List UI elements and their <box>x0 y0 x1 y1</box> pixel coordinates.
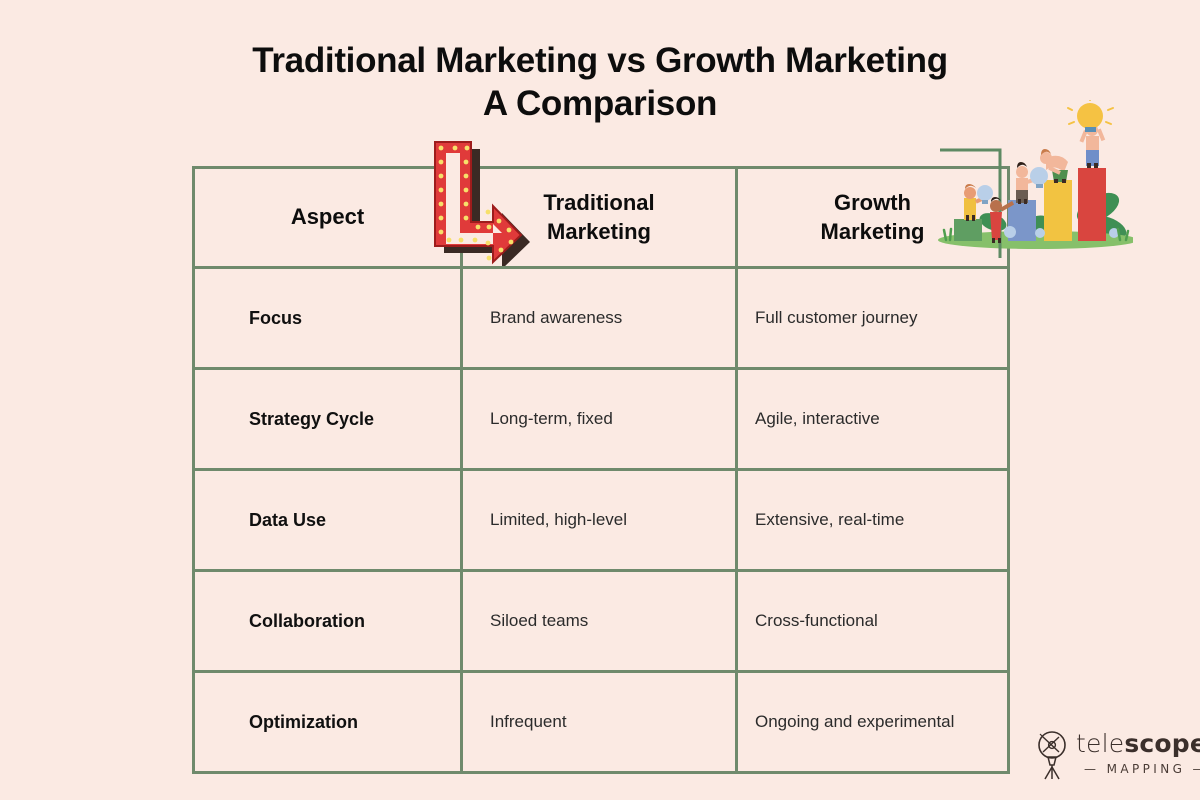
cell-growth: Cross-functional <box>737 571 1009 672</box>
column-header-traditional-line-1: Traditional <box>543 190 654 215</box>
page-title-line-2: A Comparison <box>0 83 1200 126</box>
cell-aspect: Collaboration <box>194 571 462 672</box>
page-title: Traditional Marketing vs Growth Marketin… <box>0 40 1200 125</box>
page-title-line-1: Traditional Marketing vs Growth Marketin… <box>0 40 1200 83</box>
comparison-table-container: Aspect Traditional Marketing Growth Mark… <box>192 166 1007 772</box>
table-row: Strategy Cycle Long-term, fixed Agile, i… <box>194 369 1009 470</box>
column-header-traditional-marketing: Traditional Marketing <box>462 168 737 268</box>
logo-word-light: tele <box>1076 729 1124 758</box>
column-header-traditional-line-2: Marketing <box>547 219 651 244</box>
cell-traditional: Limited, high-level <box>462 470 737 571</box>
column-header-growth-line-2: Marketing <box>821 219 925 244</box>
cell-traditional: Siloed teams <box>462 571 737 672</box>
cell-growth: Full customer journey <box>737 268 1009 369</box>
cell-growth: Extensive, real-time <box>737 470 1009 571</box>
table-header: Aspect Traditional Marketing Growth Mark… <box>194 168 1009 268</box>
cell-aspect: Focus <box>194 268 462 369</box>
column-header-aspect: Aspect <box>194 168 462 268</box>
table-row: Collaboration Siloed teams Cross-functio… <box>194 571 1009 672</box>
telescope-mapping-logo: telescope — MAPPING — <box>1032 727 1190 785</box>
cell-traditional: Infrequent <box>462 672 737 773</box>
logo-word-bold: scope <box>1124 729 1200 758</box>
cell-aspect: Data Use <box>194 470 462 571</box>
cell-aspect: Strategy Cycle <box>194 369 462 470</box>
table-row: Data Use Limited, high-level Extensive, … <box>194 470 1009 571</box>
telescope-icon <box>1032 729 1072 781</box>
logo-tagline: — MAPPING — <box>1084 762 1200 776</box>
comparison-table: Aspect Traditional Marketing Growth Mark… <box>192 166 1010 774</box>
table-row: Optimization Infrequent Ongoing and expe… <box>194 672 1009 773</box>
cell-growth: Agile, interactive <box>737 369 1009 470</box>
cell-aspect: Optimization <box>194 672 462 773</box>
table-header-row: Aspect Traditional Marketing Growth Mark… <box>194 168 1009 268</box>
table-row: Focus Brand awareness Full customer jour… <box>194 268 1009 369</box>
column-header-growth-line-1: Growth <box>834 190 911 215</box>
column-header-growth-marketing: Growth Marketing <box>737 168 1009 268</box>
cell-traditional: Long-term, fixed <box>462 369 737 470</box>
cell-traditional: Brand awareness <box>462 268 737 369</box>
cell-growth: Ongoing and experimental <box>737 672 1009 773</box>
table-body: Focus Brand awareness Full customer jour… <box>194 268 1009 773</box>
logo-wordmark: telescope <box>1076 729 1200 758</box>
